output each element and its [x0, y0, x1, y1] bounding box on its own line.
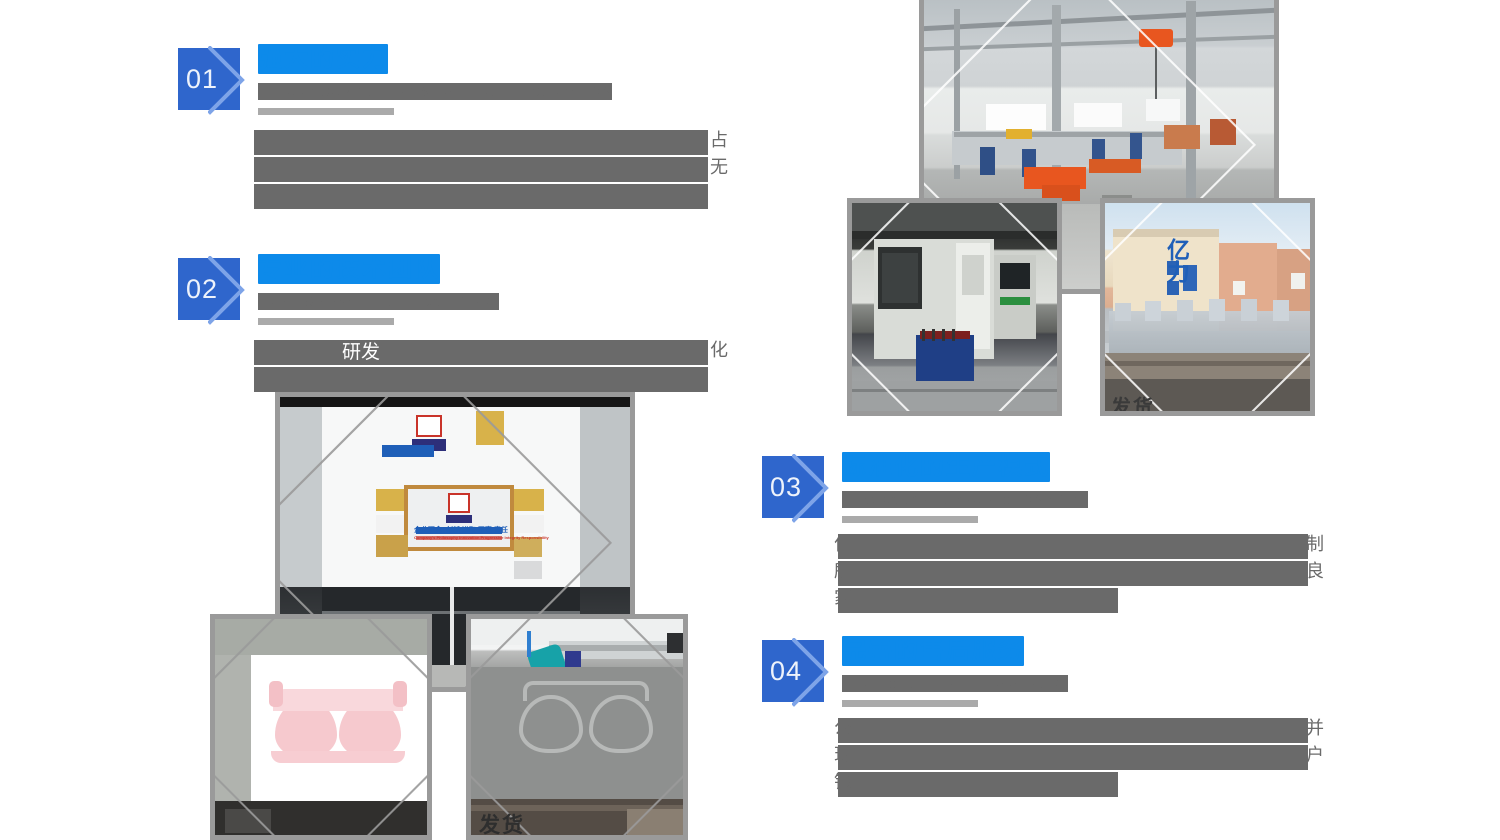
feature-rule-01: [258, 108, 394, 115]
feature-body-04: 公 现 银 并 户: [838, 718, 1338, 797]
photo-cnc-machining: [847, 198, 1062, 416]
body-visible-char: 无: [710, 155, 728, 180]
feature-rule-04: [842, 700, 978, 707]
feature-number-02: 02: [178, 258, 226, 320]
feature-subtitle-04: PERFECT AFTER-SALES SERVICE: [842, 675, 1068, 692]
body-line: [838, 745, 1308, 770]
photo-fabric-cutting: 发货: [466, 614, 688, 840]
body-visible-inline: 研发: [342, 340, 380, 365]
board-philosophy-title: 企业理念：: [414, 525, 449, 535]
body-visible-char: 占: [710, 128, 728, 153]
feature-title-03: 标准化的生产模式: [842, 452, 1050, 482]
feature-body-01: 占 无: [254, 130, 744, 209]
feature-badge-03: 03: [762, 456, 824, 518]
feature-badge-01: 01: [178, 48, 240, 110]
body-line: [838, 588, 1118, 613]
fabric-caption-label: 发货: [479, 809, 525, 839]
feature-title-02: 专业的技术团队: [258, 254, 440, 284]
photo-pink-bra-product: [210, 614, 432, 840]
photo-content-cnc: [852, 203, 1057, 411]
body-visible-char: 化: [710, 338, 728, 363]
body-visible-char: 现: [834, 743, 852, 768]
body-line: [838, 561, 1308, 586]
board-philosophy-sub: Company's Philosophy Innovation Progress…: [414, 535, 549, 540]
feature-title-04: 完善的售后服务: [842, 636, 1024, 666]
yard-sign-label: 亿力: [1167, 239, 1191, 283]
yard-caption-label: 发货: [1111, 391, 1155, 416]
body-visible-char: 所: [834, 559, 852, 584]
feature-number-03: 03: [762, 456, 810, 518]
body-line: [254, 184, 708, 209]
feature-rule-03: [842, 516, 978, 523]
body-line: [838, 718, 1308, 743]
feature-number-01: 01: [178, 48, 226, 110]
body-visible-char: 并: [1306, 716, 1324, 741]
body-visible-char: 良: [1306, 559, 1324, 584]
body-visible-char: 银: [834, 770, 852, 795]
photo-content-yard: [1105, 203, 1310, 411]
feature-title-wrap-03: 标准化的生产模式 STANDARDIZED PRODUCTION MODE: [842, 452, 1088, 523]
body-line: 研发: [254, 340, 708, 365]
feature-title-01: 强大的实力: [258, 44, 388, 74]
page-root: 亿力 发货: [0, 0, 1500, 840]
feature-number-04: 04: [762, 640, 810, 702]
feature-rule-02: [258, 318, 394, 325]
feature-badge-02: 02: [178, 258, 240, 320]
body-visible-char: 制: [1306, 532, 1324, 557]
board-philosophy-words: 创新 进取 正直 责任: [446, 525, 508, 535]
feature-badge-04: 04: [762, 640, 824, 702]
photo-shipment-yard: 亿力 发货: [1100, 198, 1315, 416]
body-line: [838, 772, 1118, 797]
body-line: [838, 534, 1308, 559]
photo-content-fabric: [471, 619, 683, 835]
feature-body-03: 作 所 家 制 良: [838, 534, 1338, 613]
feature-subtitle-01: STRONG COMPREHENSIVE STRENGTH FOUNDATION: [258, 83, 612, 100]
photo-content-pink: [215, 619, 427, 835]
body-line: [254, 130, 708, 155]
feature-title-wrap-04: 完善的售后服务 PERFECT AFTER-SALES SERVICE: [842, 636, 1068, 707]
body-visible-char: 作: [834, 532, 852, 557]
feature-subtitle-02: PROFESSIONAL TECHNICAL FORCE: [258, 293, 499, 310]
body-visible-char: 户: [1306, 743, 1324, 768]
body-line: [254, 367, 708, 392]
body-visible-char: 公: [834, 716, 852, 741]
body-visible-char: 家: [834, 586, 852, 611]
feature-title-wrap-01: 强大的实力 STRONG COMPREHENSIVE STRENGTH FOUN…: [258, 44, 612, 115]
body-line: [254, 157, 708, 182]
feature-body-02: 研发 化: [254, 340, 744, 392]
feature-title-wrap-02: 专业的技术团队 PROFESSIONAL TECHNICAL FORCE: [258, 254, 499, 325]
feature-subtitle-03: STANDARDIZED PRODUCTION MODE: [842, 491, 1088, 508]
